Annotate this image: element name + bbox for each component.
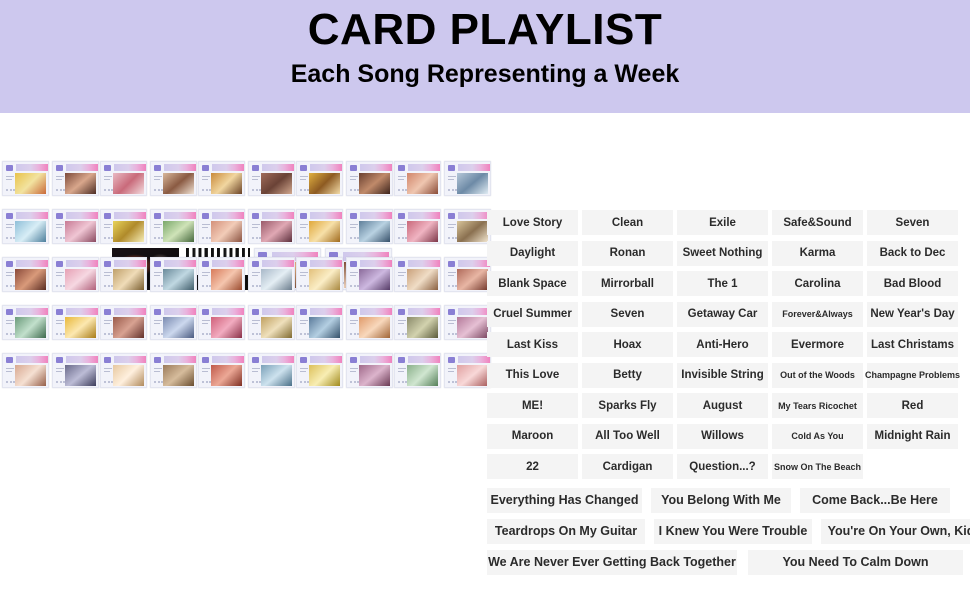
card-photo [309, 173, 340, 194]
card-text-lines [350, 272, 358, 282]
collage-card-pair [296, 257, 396, 292]
playlist-card[interactable] [248, 305, 295, 340]
playlist-card[interactable] [52, 161, 99, 196]
card-icon [252, 165, 259, 171]
song-cell[interactable]: Ronan [582, 241, 673, 266]
card-photo [407, 221, 438, 242]
card-photo [359, 221, 390, 242]
collage-card-pair [100, 257, 200, 292]
card-text-lines [398, 176, 406, 186]
card-title-strip [408, 260, 440, 267]
card-icon [202, 309, 209, 315]
song-cell[interactable]: August [677, 393, 768, 418]
card-icon [56, 213, 63, 219]
collage-card-pair [296, 209, 396, 244]
playlist-card[interactable] [52, 209, 99, 244]
playlist-card[interactable] [296, 305, 343, 340]
card-title-strip [408, 212, 440, 219]
collage-card-pair [296, 161, 396, 196]
card-text-lines [350, 176, 358, 186]
card-title-strip [16, 356, 48, 363]
playlist-card[interactable] [248, 161, 295, 196]
card-photo [113, 173, 144, 194]
card-icon [252, 213, 259, 219]
song-cell[interactable]: Betty [582, 363, 673, 388]
card-title-strip [114, 356, 146, 363]
card-title-strip [310, 260, 342, 267]
card-title-strip [360, 212, 392, 219]
song-row-wide: Everything Has ChangedYou Belong With Me… [487, 488, 959, 513]
song-cell[interactable]: Out of the Woods [772, 363, 863, 388]
song-cell[interactable]: Midnight Rain [867, 424, 958, 449]
card-photo [457, 269, 488, 290]
card-photo [15, 365, 46, 386]
playlist-card[interactable] [346, 209, 393, 244]
card-text-lines [448, 224, 456, 234]
card-text-lines [56, 320, 64, 330]
card-photo [407, 365, 438, 386]
playlist-card[interactable] [100, 305, 147, 340]
card-text-lines [56, 272, 64, 282]
song-cell[interactable]: Karma [772, 241, 863, 266]
song-cell[interactable]: Love Story [487, 210, 578, 235]
playlist-card[interactable] [248, 209, 295, 244]
playlist-card[interactable] [100, 257, 147, 292]
song-cell[interactable]: The 1 [677, 271, 768, 296]
song-cell-empty [867, 454, 958, 479]
card-photo [211, 221, 242, 242]
card-photo [211, 173, 242, 194]
card-text-lines [154, 272, 162, 282]
card-title-strip [458, 308, 490, 315]
song-cell[interactable]: Willows [677, 424, 768, 449]
card-title-strip [114, 164, 146, 171]
card-icon [398, 165, 405, 171]
playlist-card[interactable] [444, 209, 491, 244]
card-title-strip [262, 164, 294, 171]
card-photo [113, 317, 144, 338]
card-text-lines [252, 272, 260, 282]
playlist-card[interactable] [346, 353, 393, 388]
collage-card-pair [2, 257, 102, 292]
playlist-card[interactable] [2, 209, 49, 244]
song-cell[interactable]: New Year's Day [867, 302, 958, 327]
card-icon [104, 165, 111, 171]
card-photo [163, 365, 194, 386]
song-cell[interactable]: Sweet Nothing [677, 241, 768, 266]
song-cell[interactable]: This Love [487, 363, 578, 388]
song-cell[interactable]: Exile [677, 210, 768, 235]
card-photo [65, 317, 96, 338]
playlist-card[interactable] [248, 353, 295, 388]
card-title-strip [262, 212, 294, 219]
playlist-card[interactable] [150, 161, 197, 196]
song-cell[interactable]: Cruel Summer [487, 302, 578, 327]
card-title-strip [66, 308, 98, 315]
card-title-strip [16, 308, 48, 315]
card-icon [448, 213, 455, 219]
card-text-lines [398, 320, 406, 330]
card-text-lines [350, 368, 358, 378]
card-title-strip [458, 356, 490, 363]
content-area: Love StoryCleanExileSafe&SoundSevenDayli… [0, 113, 970, 600]
song-row-widest: We Are Never Ever Getting Back TogetherY… [487, 550, 970, 575]
playlist-card[interactable] [2, 161, 49, 196]
card-title-strip [360, 308, 392, 315]
card-photo [359, 173, 390, 194]
card-title-strip [310, 308, 342, 315]
song-cell[interactable]: Bad Blood [867, 271, 958, 296]
song-cell[interactable]: Hoax [582, 332, 673, 357]
card-title-strip [310, 356, 342, 363]
playlist-card[interactable] [296, 209, 343, 244]
collage-card-pair [2, 161, 102, 196]
card-photo [163, 221, 194, 242]
playlist-card[interactable] [52, 305, 99, 340]
playlist-card[interactable] [444, 353, 491, 388]
playlist-card[interactable] [444, 257, 491, 292]
card-icon [154, 261, 161, 267]
card-text-lines [6, 368, 14, 378]
playlist-card[interactable] [150, 209, 197, 244]
card-title-strip [360, 164, 392, 171]
collage-card-pair [198, 161, 298, 196]
collage-card-pair [394, 305, 494, 340]
card-icon [202, 357, 209, 363]
card-icon [6, 165, 13, 171]
song-cell[interactable]: You're On Your Own, Kid [821, 519, 970, 544]
card-text-lines [104, 176, 112, 186]
song-cell[interactable]: Evermore [772, 332, 863, 357]
playlist-card[interactable] [394, 257, 441, 292]
card-text-lines [202, 272, 210, 282]
card-title-strip [360, 260, 392, 267]
card-text-lines [56, 224, 64, 234]
card-photo [261, 269, 292, 290]
collage-card-pair [296, 353, 396, 388]
card-icon [104, 213, 111, 219]
song-row: Love StoryCleanExileSafe&SoundSeven [487, 210, 958, 235]
card-photo [457, 173, 488, 194]
card-title-strip [310, 164, 342, 171]
card-text-lines [202, 224, 210, 234]
song-cell[interactable]: Last Christams [867, 332, 958, 357]
song-grid: Love StoryCleanExileSafe&SoundSevenDayli… [487, 113, 970, 600]
playlist-card[interactable] [394, 209, 441, 244]
card-photo [163, 317, 194, 338]
card-icon [300, 213, 307, 219]
collage-card-pair [100, 353, 200, 388]
song-cell[interactable]: My Tears Ricochet [772, 393, 863, 418]
song-cell[interactable]: Forever&Always [772, 302, 863, 327]
card-icon [154, 213, 161, 219]
card-photo [65, 269, 96, 290]
collage-card-pair [198, 209, 298, 244]
card-icon [300, 309, 307, 315]
song-cell[interactable]: Carolina [772, 271, 863, 296]
card-text-lines [202, 320, 210, 330]
card-text-lines [252, 320, 260, 330]
song-cell[interactable]: Invisible String [677, 363, 768, 388]
song-cell[interactable]: Sparks Fly [582, 393, 673, 418]
song-cell[interactable]: Come Back...Be Here [800, 488, 950, 513]
card-photo [65, 221, 96, 242]
song-cell[interactable]: Maroon [487, 424, 578, 449]
playlist-card[interactable] [100, 209, 147, 244]
card-text-lines [300, 224, 308, 234]
card-icon [350, 357, 357, 363]
playlist-card[interactable] [346, 161, 393, 196]
card-title-strip [16, 260, 48, 267]
collage-card-pair [296, 305, 396, 340]
card-photo [359, 317, 390, 338]
card-icon [6, 261, 13, 267]
song-cell[interactable]: Seven [867, 210, 958, 235]
card-text-lines [56, 176, 64, 186]
card-title-strip [164, 308, 196, 315]
collage-card-pair [198, 305, 298, 340]
card-icon [154, 165, 161, 171]
card-icon [350, 165, 357, 171]
card-photo [359, 269, 390, 290]
card-title-strip [164, 164, 196, 171]
song-cell[interactable]: Cardigan [582, 454, 673, 479]
card-icon [6, 357, 13, 363]
card-photo [261, 173, 292, 194]
card-photo [15, 269, 46, 290]
card-title-strip [164, 212, 196, 219]
card-title-strip [114, 308, 146, 315]
card-text-lines [448, 272, 456, 282]
song-cell[interactable]: Blank Space [487, 271, 578, 296]
page-header: CARD PLAYLIST Each Song Representing a W… [0, 0, 970, 113]
card-title-strip [212, 212, 244, 219]
card-icon [300, 261, 307, 267]
collage-card-pair [2, 209, 102, 244]
playlist-card[interactable] [394, 161, 441, 196]
song-cell[interactable]: Cold As You [772, 424, 863, 449]
song-cell[interactable]: Red [867, 393, 958, 418]
collage-card-pair [394, 353, 494, 388]
card-title-strip [212, 308, 244, 315]
card-photo [407, 269, 438, 290]
song-cell[interactable]: Snow On The Beach [772, 454, 863, 479]
song-cell[interactable]: ME! [487, 393, 578, 418]
card-photo [113, 269, 144, 290]
card-title-strip [408, 356, 440, 363]
playlist-card[interactable] [150, 257, 197, 292]
song-cell[interactable]: Seven [582, 302, 673, 327]
card-text-lines [448, 368, 456, 378]
card-photo [407, 317, 438, 338]
card-title-strip [16, 212, 48, 219]
card-icon [202, 261, 209, 267]
song-cell[interactable]: All Too Well [582, 424, 673, 449]
playlist-card[interactable] [150, 305, 197, 340]
playlist-card[interactable] [2, 353, 49, 388]
collage-card-pair [2, 353, 102, 388]
card-photo [15, 221, 46, 242]
playlist-card[interactable] [296, 353, 343, 388]
playlist-card[interactable] [296, 161, 343, 196]
song-cell[interactable]: 22 [487, 454, 578, 479]
song-cell[interactable]: Getaway Car [677, 302, 768, 327]
collage-card-pair [394, 161, 494, 196]
playlist-card[interactable] [198, 305, 245, 340]
card-text-lines [350, 320, 358, 330]
card-title-strip [262, 260, 294, 267]
card-photo [261, 365, 292, 386]
song-row: Cruel SummerSevenGetaway CarForever&Alwa… [487, 302, 958, 327]
song-cell[interactable]: Daylight [487, 241, 578, 266]
song-cell[interactable]: Teardrops On My Guitar [487, 519, 645, 544]
playlist-card[interactable] [100, 161, 147, 196]
card-icon [300, 357, 307, 363]
card-text-lines [6, 272, 14, 282]
playlist-card[interactable] [248, 257, 295, 292]
card-text-lines [448, 176, 456, 186]
card-text-lines [202, 176, 210, 186]
card-text-lines [154, 320, 162, 330]
card-icon [6, 213, 13, 219]
card-title-strip [408, 164, 440, 171]
playlist-card[interactable] [394, 305, 441, 340]
card-text-lines [398, 224, 406, 234]
collage-card-pair [394, 257, 494, 292]
song-cell[interactable]: Mirrorball [582, 271, 673, 296]
collage-card-pair [198, 353, 298, 388]
card-text-lines [252, 176, 260, 186]
card-text-lines [300, 272, 308, 282]
card-text-lines [350, 224, 358, 234]
card-text-lines [6, 320, 14, 330]
song-row: DaylightRonanSweet NothingKarmaBack to D… [487, 241, 958, 266]
card-icon [252, 309, 259, 315]
playlist-card[interactable] [2, 305, 49, 340]
card-title-strip [212, 260, 244, 267]
playlist-card[interactable] [296, 257, 343, 292]
playlist-card[interactable] [52, 257, 99, 292]
song-cell[interactable]: Safe&Sound [772, 210, 863, 235]
song-cell[interactable]: Champagne Problems [867, 363, 958, 388]
card-title-strip [458, 212, 490, 219]
song-cell[interactable]: Clean [582, 210, 673, 235]
card-icon [202, 213, 209, 219]
card-icon [104, 261, 111, 267]
card-icon [104, 309, 111, 315]
song-cell[interactable]: I Knew You Were Trouble [654, 519, 812, 544]
card-text-lines [300, 176, 308, 186]
card-text-lines [104, 224, 112, 234]
playlist-card[interactable] [198, 353, 245, 388]
card-title-strip [212, 356, 244, 363]
card-photo [15, 317, 46, 338]
card-title-strip [458, 260, 490, 267]
playlist-card[interactable] [198, 209, 245, 244]
playlist-card[interactable] [198, 257, 245, 292]
card-icon [350, 213, 357, 219]
card-title-strip [408, 308, 440, 315]
collage-card-pair [100, 209, 200, 244]
card-photo [309, 365, 340, 386]
playlist-card[interactable] [52, 353, 99, 388]
card-icon [56, 261, 63, 267]
card-title-strip [164, 356, 196, 363]
song-cell[interactable]: You Belong With Me [651, 488, 791, 513]
playlist-card[interactable] [346, 257, 393, 292]
card-photo [457, 317, 488, 338]
card-text-lines [6, 176, 14, 186]
playlist-card[interactable] [444, 305, 491, 340]
card-photo [113, 365, 144, 386]
playlist-card[interactable] [100, 353, 147, 388]
song-cell[interactable]: Everything Has Changed [487, 488, 642, 513]
card-title-strip [114, 212, 146, 219]
song-cell[interactable]: You Need To Calm Down [748, 550, 963, 575]
card-text-lines [398, 272, 406, 282]
card-text-lines [154, 176, 162, 186]
song-cell[interactable]: Last Kiss [487, 332, 578, 357]
playlist-card[interactable] [346, 305, 393, 340]
card-text-lines [154, 224, 162, 234]
song-cell[interactable]: Anti-Hero [677, 332, 768, 357]
card-icon [398, 213, 405, 219]
card-text-lines [398, 368, 406, 378]
card-text-lines [300, 320, 308, 330]
card-title-strip [66, 260, 98, 267]
card-icon [56, 309, 63, 315]
page-subtitle: Each Song Representing a Week [291, 60, 680, 89]
card-text-lines [56, 368, 64, 378]
playlist-card[interactable] [394, 353, 441, 388]
card-photo [163, 269, 194, 290]
card-text-lines [104, 320, 112, 330]
card-photo [261, 221, 292, 242]
song-row: Last KissHoaxAnti-HeroEvermoreLast Chris… [487, 332, 958, 357]
card-icon [448, 165, 455, 171]
card-title-strip [66, 356, 98, 363]
card-text-lines [448, 320, 456, 330]
card-title-strip [310, 212, 342, 219]
card-icon [398, 309, 405, 315]
card-icon [448, 309, 455, 315]
card-photo [211, 269, 242, 290]
card-photo [15, 173, 46, 194]
card-icon [448, 357, 455, 363]
card-title-strip [66, 164, 98, 171]
card-photo [65, 173, 96, 194]
playlist-card[interactable] [198, 161, 245, 196]
playlist-card[interactable] [444, 161, 491, 196]
collage-card-pair [198, 257, 298, 292]
page-title: CARD PLAYLIST [308, 6, 662, 54]
card-collage [0, 113, 487, 600]
card-text-lines [202, 368, 210, 378]
song-cell[interactable]: Question...? [677, 454, 768, 479]
card-icon [252, 357, 259, 363]
card-icon [398, 357, 405, 363]
song-cell[interactable]: We Are Never Ever Getting Back Together [487, 550, 737, 575]
card-icon [104, 357, 111, 363]
playlist-card[interactable] [2, 257, 49, 292]
card-title-strip [164, 260, 196, 267]
song-cell[interactable]: Back to Dec [867, 241, 958, 266]
card-text-lines [154, 368, 162, 378]
collage-card-pair [100, 305, 200, 340]
card-icon [56, 165, 63, 171]
card-photo [309, 269, 340, 290]
playlist-card[interactable] [150, 353, 197, 388]
